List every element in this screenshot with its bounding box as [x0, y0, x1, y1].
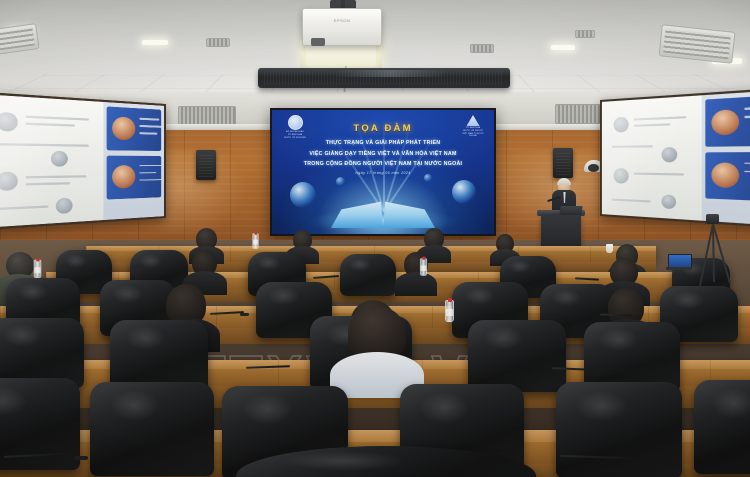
- water-bottle: [252, 233, 258, 248]
- podium-laptop: [559, 206, 583, 215]
- chair: [468, 320, 566, 392]
- doc-text-line: [634, 116, 687, 120]
- paper-cup: [606, 244, 613, 253]
- participant-tile-strip: [702, 90, 750, 225]
- participant-tile: [705, 152, 750, 202]
- doc-text-line: [26, 175, 87, 178]
- slide-orb-small: [336, 177, 345, 186]
- participant-avatar: [0, 112, 18, 132]
- speaker-hair: [557, 178, 571, 185]
- participant-avatar: [51, 151, 68, 167]
- doc-text-line: [612, 199, 651, 202]
- participant-avatar: [662, 147, 678, 162]
- participant-avatar: [56, 198, 73, 214]
- tile-caption-line: [139, 118, 159, 121]
- chair: [556, 382, 682, 477]
- laptop-base: [666, 267, 692, 270]
- tile-caption-line: [139, 179, 161, 181]
- microphone-base: [240, 313, 249, 316]
- tile-caption-line: [139, 165, 161, 167]
- video-camera-icon: [706, 214, 719, 224]
- participant-tile: [705, 96, 750, 147]
- shared-document-pane: [0, 94, 103, 228]
- water-bottle: [34, 260, 42, 279]
- recessed-light: [142, 40, 168, 45]
- doc-text-line: [612, 145, 653, 147]
- chair: [90, 382, 214, 476]
- water-bottle: [420, 258, 427, 276]
- chair: [340, 254, 396, 296]
- doc-text-line: [0, 143, 89, 146]
- wall-air-vent-left: [178, 106, 236, 125]
- ceiling-vent: [575, 30, 595, 38]
- ceiling-vent: [206, 38, 230, 47]
- participant-face-icon: [112, 117, 135, 141]
- slide-date: Ngày 17 tháng 06 năm 2024: [272, 171, 494, 175]
- chair: [694, 380, 750, 474]
- tile-caption-line: [744, 170, 750, 172]
- wall-speaker-left: [196, 150, 216, 180]
- participant-avatar: [662, 194, 677, 209]
- participant-face-icon: [711, 109, 739, 135]
- slide-orb-left: [290, 182, 316, 208]
- tile-caption-line: [744, 115, 750, 118]
- projector-light-panel: [306, 44, 376, 66]
- slide-subtitle-line-1: THỰC TRẠNG VÀ GIẢI PHÁP PHÁT TRIỂN: [280, 138, 486, 149]
- doc-text-line: [0, 205, 48, 209]
- projector-brand-label: EPSON: [334, 18, 351, 23]
- slide-orb-small: [424, 174, 432, 182]
- doc-text-line: [26, 123, 75, 127]
- participant-tile: [106, 106, 161, 150]
- projector: EPSON: [302, 8, 382, 46]
- participant-avatar: [614, 168, 629, 184]
- participant-avatar: [614, 117, 629, 133]
- doc-text-line: [634, 173, 684, 175]
- doc-text-line: [26, 182, 71, 185]
- tile-caption-line: [139, 132, 157, 134]
- doc-text-line: [634, 123, 671, 126]
- tile-caption-line: [139, 125, 161, 128]
- ceiling-vent: [470, 44, 494, 53]
- slide-subtitle-block: THỰC TRẠNG VÀ GIẢI PHÁP PHÁT TRIỂN VIỆC …: [280, 138, 486, 170]
- participant-face-icon: [112, 165, 135, 189]
- recessed-light: [551, 45, 575, 50]
- conference-hall-photo: EPSON BỘ NGOẠI GIAO ỦY BAN NHÀ NƯỚC VỀ N…: [0, 0, 750, 477]
- video-conference-screen-left: [0, 91, 166, 230]
- participant-tile: [106, 155, 161, 199]
- projector-lens: [311, 38, 325, 46]
- tile-caption-line: [139, 172, 156, 174]
- slide-title: TỌA ĐÀM: [272, 123, 494, 134]
- slide-subtitle-line-3: TRONG CỘNG ĐỒNG NGƯỜI VIỆT NAM TẠI NƯỚC …: [280, 159, 486, 170]
- microphone-base: [74, 456, 88, 460]
- slide-orb-right: [452, 180, 476, 204]
- person-shoulders: [395, 272, 437, 296]
- wall-speaker-right: [553, 148, 573, 178]
- participant-face-icon: [711, 163, 739, 189]
- tile-caption-line: [744, 106, 750, 109]
- slide-subtitle-line-2: VIỆC GIẢNG DẠY TIẾNG VIỆT VÀ VĂN HÓA VIỆ…: [280, 149, 486, 160]
- participant-avatar: [0, 172, 18, 191]
- shared-document-pane: [602, 95, 702, 220]
- participant-tile-strip: [103, 102, 164, 220]
- ceiling-soundbar: [258, 68, 510, 88]
- water-bottle: [445, 300, 454, 322]
- video-conference-screen-right: [600, 88, 750, 228]
- tile-caption-line: [744, 162, 750, 164]
- doc-text-line: [26, 116, 89, 121]
- main-presentation-screen: BỘ NGOẠI GIAO ỦY BAN NHÀ NƯỚC VỀ NVNONN …: [270, 108, 496, 236]
- soundbar-reflection: [334, 70, 447, 77]
